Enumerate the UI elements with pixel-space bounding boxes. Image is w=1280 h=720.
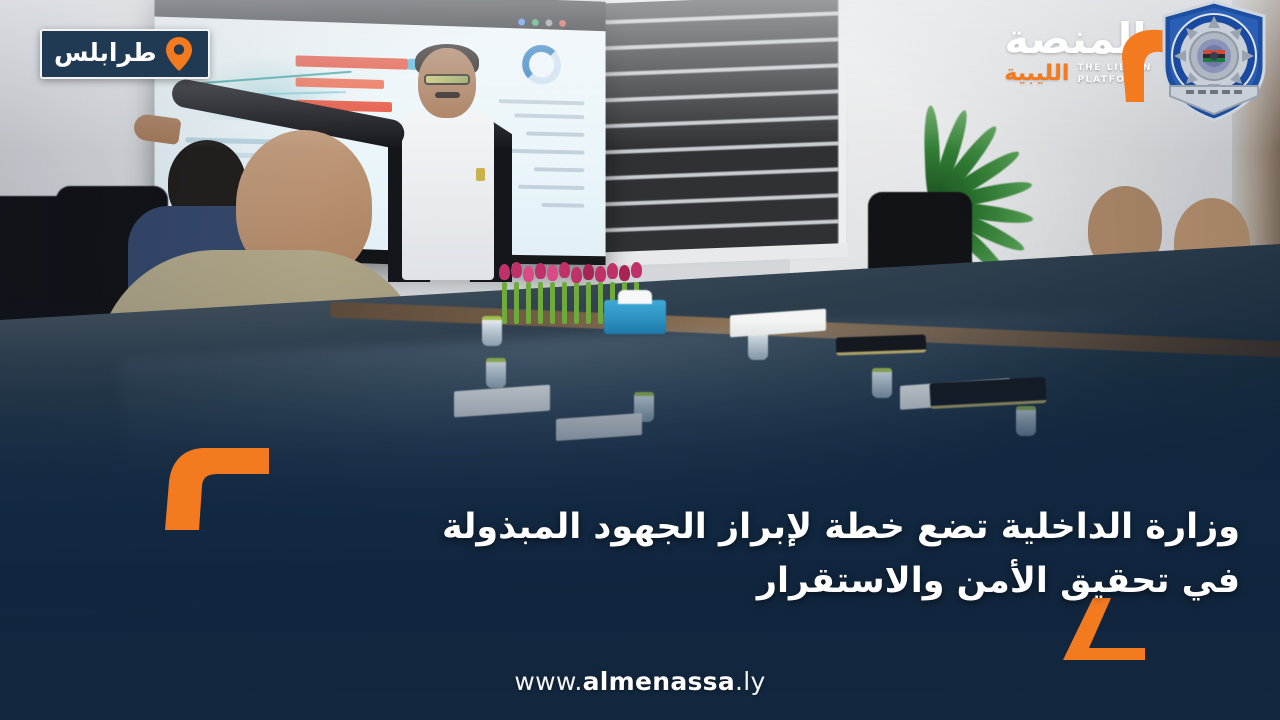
location-badge: طرابلس <box>40 29 210 79</box>
brand-name-arabic-secondary: الليبية <box>1004 63 1069 85</box>
url-prefix: www. <box>514 667 582 696</box>
map-pin-icon <box>166 37 192 71</box>
water-glass <box>482 316 502 346</box>
headline: وزارة الداخلية تضع خطة لإبراز الجهود الم… <box>160 500 1240 609</box>
gauge-donut <box>522 44 561 85</box>
news-card: طرابلس المنصة THE LIBYAN PLATFORM الليبي… <box>0 0 1280 720</box>
headline-line-2: في تحقيق الأمن والاستقرار <box>160 554 1240 608</box>
libyan-police-emblem-icon <box>1156 0 1272 122</box>
website-url: www.almenassa.ly <box>0 667 1280 696</box>
presenter-person <box>380 48 520 278</box>
window-frame <box>592 0 846 265</box>
url-name: almenassa <box>583 667 735 696</box>
location-label: طرابلس <box>54 40 157 68</box>
water-glass <box>486 358 506 388</box>
tissue-box <box>604 300 666 334</box>
folder <box>836 334 927 355</box>
water-glass <box>872 368 892 398</box>
url-tld: .ly <box>735 667 766 696</box>
headline-line-1: وزارة الداخلية تضع خطة لإبراز الجهود الم… <box>160 500 1240 554</box>
water-glass <box>1016 406 1036 436</box>
eyeglasses <box>424 74 470 85</box>
